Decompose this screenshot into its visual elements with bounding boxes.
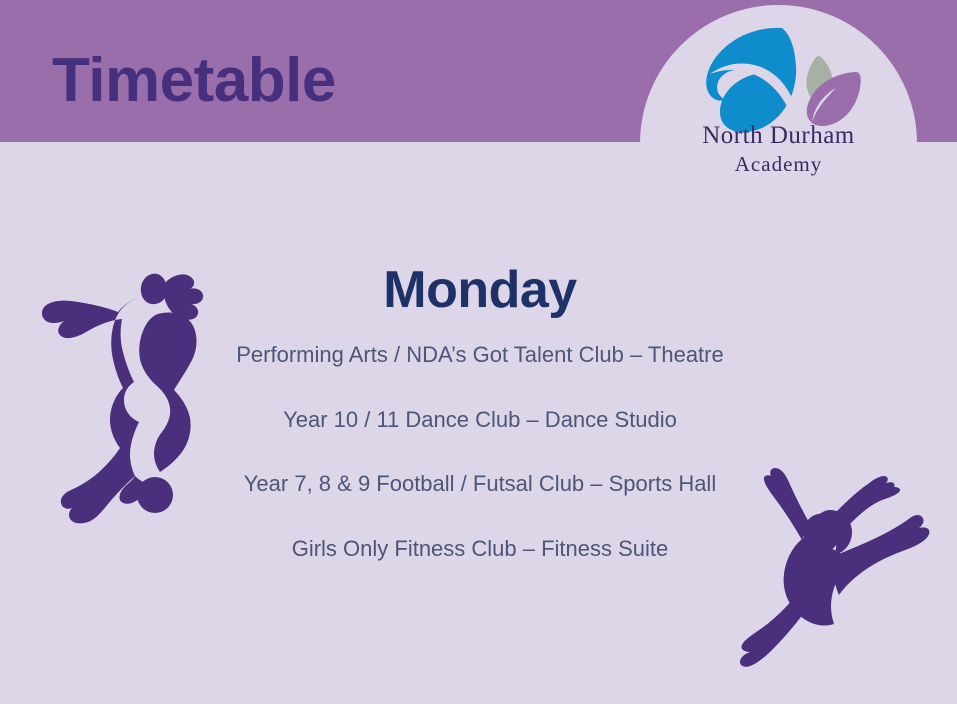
logo-name-line-2: Academy: [640, 151, 917, 177]
page-title: Timetable: [52, 50, 336, 112]
session-item: Year 10 / 11 Dance Club – Dance Studio: [180, 406, 780, 434]
session-item: Girls Only Fitness Club – Fitness Suite: [180, 535, 780, 563]
day-content: Monday Performing Arts / NDA’s Got Talen…: [180, 262, 780, 562]
day-heading: Monday: [180, 262, 780, 319]
timetable-slide: Timetable North Durham Academy: [0, 0, 957, 704]
session-item: Year 7, 8 & 9 Football / Futsal Club – S…: [180, 470, 780, 498]
logo-name-line-1: North Durham: [640, 122, 917, 151]
academy-logo-icon: [686, 22, 876, 134]
session-item: Performing Arts / NDA’s Got Talent Club …: [180, 341, 780, 369]
session-list: Performing Arts / NDA’s Got Talent Club …: [180, 341, 780, 562]
logo-wordmark: North Durham Academy: [640, 122, 917, 177]
